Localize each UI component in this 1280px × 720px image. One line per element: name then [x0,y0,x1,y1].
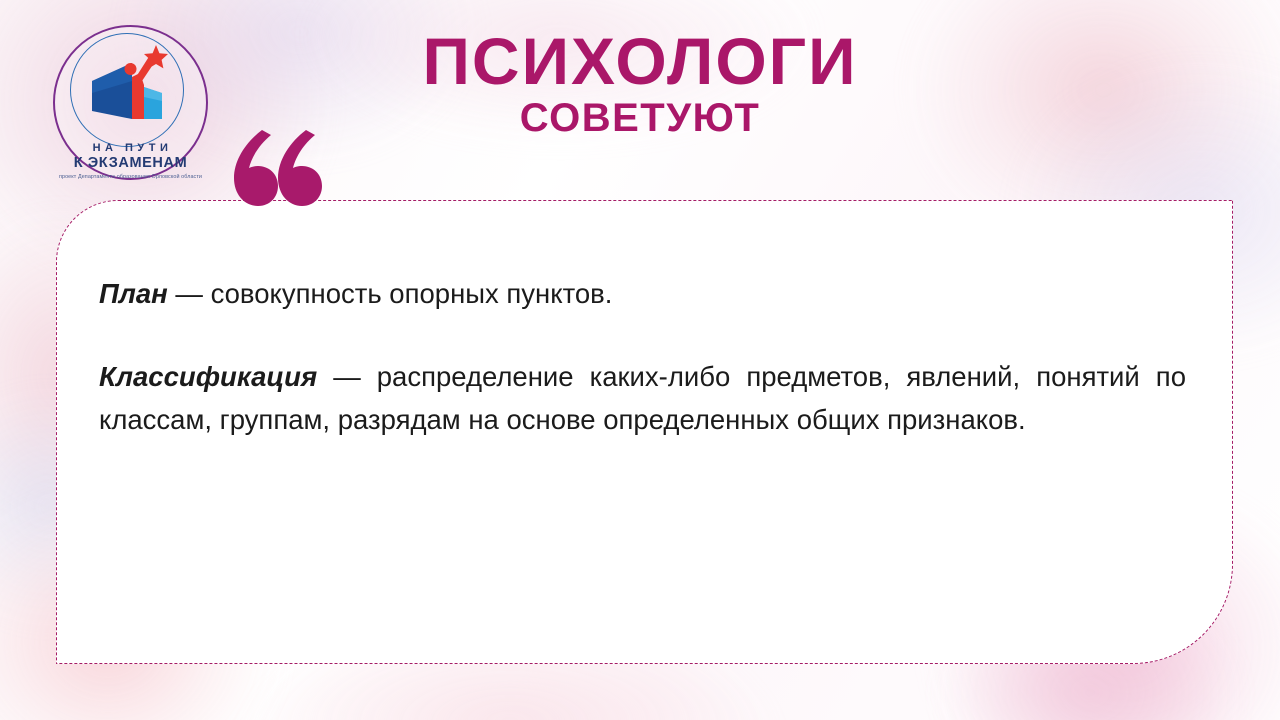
slide-canvas: НА ПУТИ К ЭКЗАМЕНАМ проект Департамента … [0,0,1280,720]
content-body: План — совокупность опорных пунктов. Кла… [99,273,1186,442]
term-label-1: План [99,278,168,309]
definition-paragraph-2: Классификация — распределение каких-либо… [99,356,1186,442]
book-and-person-with-star-icon [70,33,182,145]
logo-line-3: проект Департамента образования Орловско… [53,174,208,181]
dash-1: — [168,278,211,309]
project-logo: НА ПУТИ К ЭКЗАМЕНАМ проект Департамента … [53,25,208,180]
logo-line-2: К ЭКЗАМЕНАМ [53,156,208,171]
term-label-2: Классификация [99,361,317,392]
page-title: ПСИХОЛОГИ СОВЕТУЮТ [330,28,950,139]
opening-quotation-mark-icon [216,116,326,226]
logo-wordmark: НА ПУТИ К ЭКЗАМЕНАМ проект Департамента … [53,143,208,181]
dash-2: — [317,361,377,392]
definition-text-1: совокупность опорных пунктов. [211,278,613,309]
title-main: ПСИХОЛОГИ [330,28,950,95]
title-sub: СОВЕТУЮТ [330,97,950,139]
content-card: План — совокупность опорных пунктов. Кла… [56,200,1233,664]
logo-line-1: НА ПУТИ [53,143,208,154]
definition-paragraph-1: План — совокупность опорных пунктов. [99,273,1186,316]
